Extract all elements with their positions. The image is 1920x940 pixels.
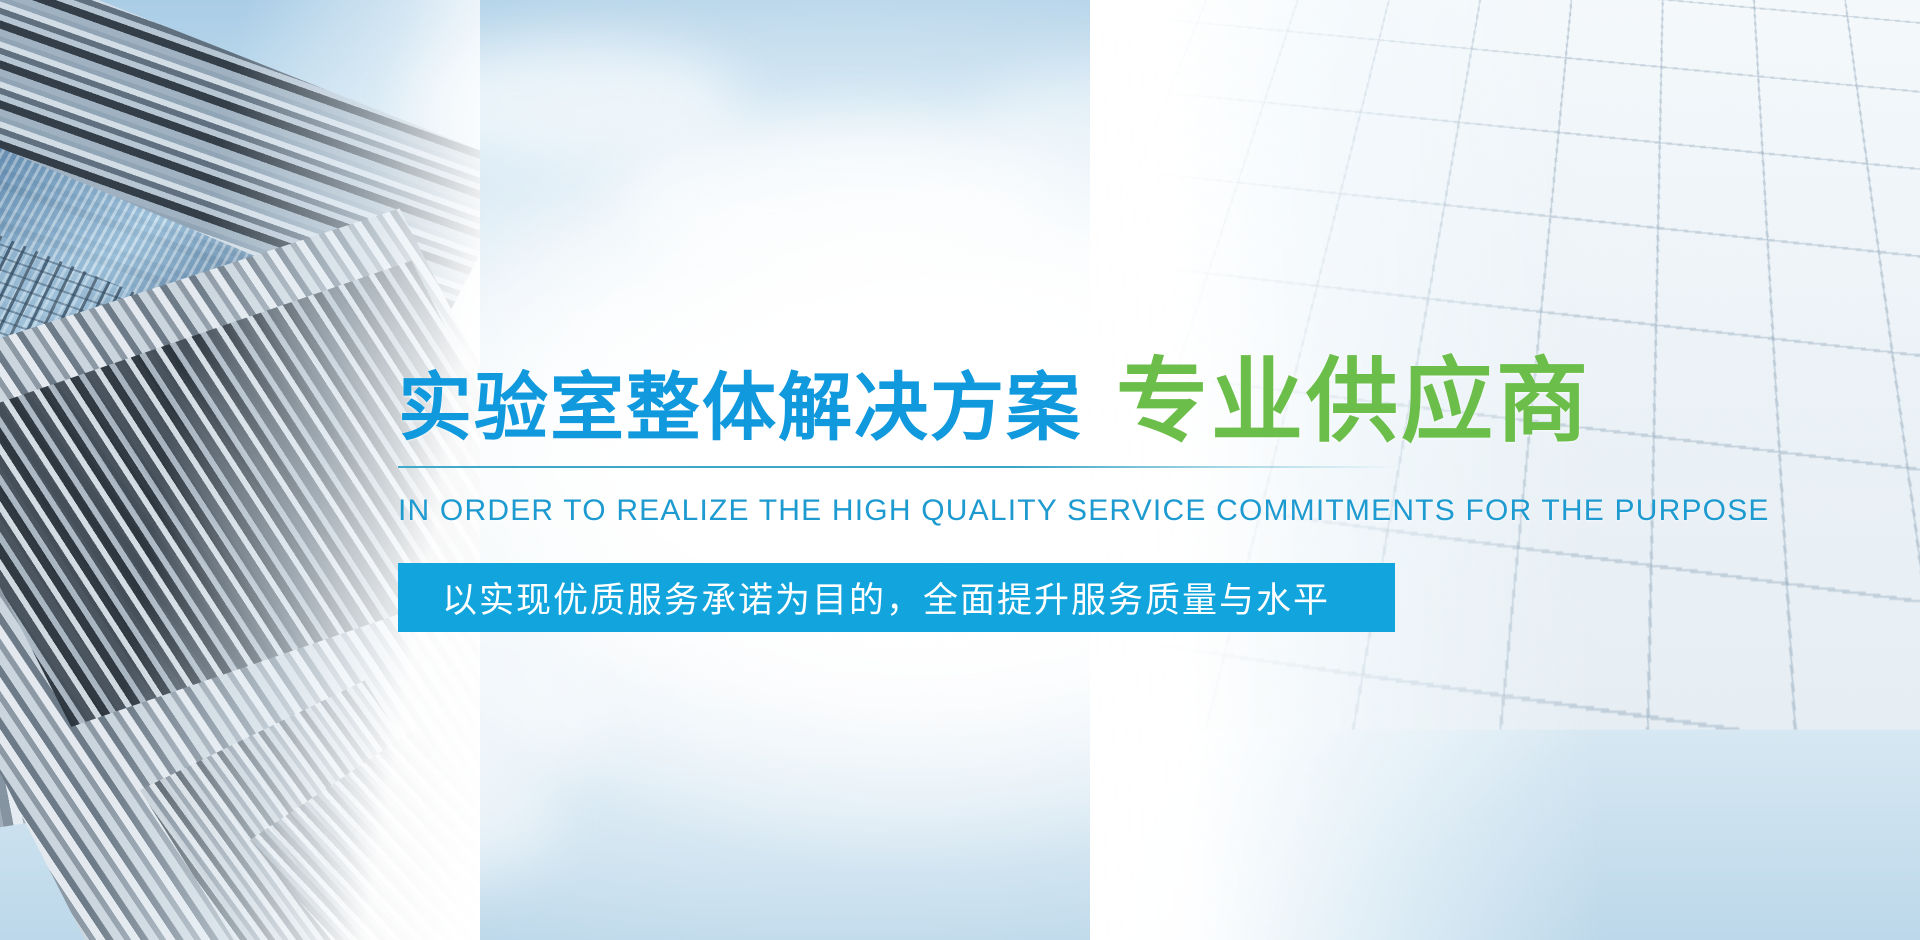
headline-accent: 专业供应商 bbox=[1116, 356, 1591, 448]
hero-banner: 实验室整体解决方案 专业供应商 IN ORDER TO REALIZE THE … bbox=[0, 0, 1920, 940]
headline-primary: 实验室整体解决方案 bbox=[398, 371, 1082, 445]
headline: 实验室整体解决方案 专业供应商 bbox=[398, 356, 1591, 448]
subtitle-english: IN ORDER TO REALIZE THE HIGH QUALITY SER… bbox=[398, 494, 1770, 528]
headline-divider bbox=[398, 466, 1398, 468]
banner-content: 实验室整体解决方案 专业供应商 IN ORDER TO REALIZE THE … bbox=[0, 0, 1920, 940]
callout-bar: 以实现优质服务承诺为目的，全面提升服务质量与水平 bbox=[398, 563, 1395, 632]
callout-bar-text: 以实现优质服务承诺为目的，全面提升服务质量与水平 bbox=[398, 572, 1330, 623]
